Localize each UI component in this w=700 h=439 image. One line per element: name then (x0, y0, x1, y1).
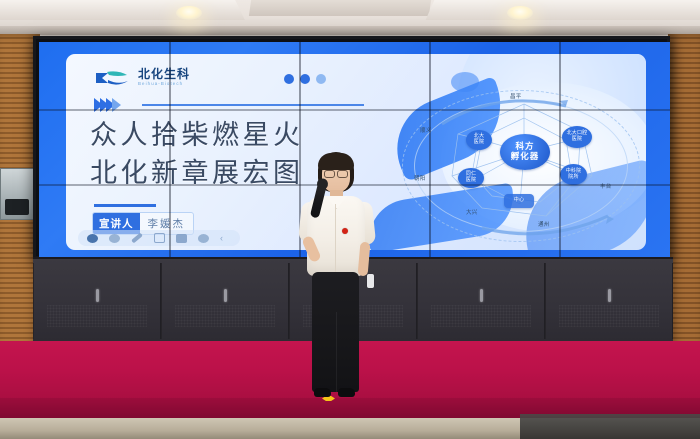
hair-front (318, 153, 354, 170)
slides-icon[interactable] (176, 234, 187, 243)
panel-seam-vertical (169, 42, 171, 259)
shoe-right (338, 388, 355, 397)
logo-text: 北化生科 Beihua-Biotech (138, 68, 190, 87)
diagram-node: 北大医院 (466, 130, 492, 150)
panel-seam-vertical (559, 42, 561, 259)
ceiling-beam (0, 26, 700, 35)
panel-seam-horizontal (39, 109, 670, 111)
diagram-district-label: 大兴 (466, 210, 478, 217)
slide-dot-group (284, 74, 326, 84)
cabinet-vent (559, 305, 660, 327)
panel-seam-vertical (429, 42, 431, 259)
diagram-hub-line-2: 孵化器 (511, 152, 540, 162)
laser-icon[interactable] (109, 234, 120, 243)
cabinet-door[interactable] (545, 263, 673, 339)
slide-dot-2 (300, 74, 310, 84)
logo-text-en: Beihua-Biotech (138, 80, 190, 87)
arm-right (358, 242, 371, 277)
company-logo: 北化生科 Beihua-Biotech (94, 68, 190, 88)
slide-divider-line (142, 104, 364, 106)
handheld-remote (367, 274, 374, 288)
slide-dot-1 (284, 74, 294, 84)
cabinet-door[interactable] (161, 263, 289, 339)
logo-text-cn: 北化生科 (138, 68, 190, 80)
ceiling-downlight-left (176, 6, 202, 20)
shirt-placket (335, 204, 336, 274)
ceiling-coffer-right (426, 0, 700, 20)
zoom-icon[interactable] (154, 233, 165, 243)
diagram-node: 中科院院所 (560, 164, 587, 185)
pen-pointer-icon[interactable] (87, 234, 98, 243)
presenter-underbar (94, 204, 156, 207)
diagram-node: 中心 (504, 194, 534, 208)
glasses-icon (324, 170, 348, 176)
presentation-toolbar[interactable]: ‹ (78, 230, 240, 246)
cabinet-door[interactable] (33, 263, 161, 339)
slide-title-line-1: 众人拾柴燃星火 (90, 116, 390, 154)
cabinet-vent (175, 305, 276, 327)
shoe-left (314, 388, 331, 397)
diagram-hub-node: 科方 孵化器 (500, 134, 550, 170)
speaker (290, 152, 382, 404)
floor-shadow-area (520, 414, 700, 439)
control-room-window (0, 168, 35, 220)
ceiling-coffer-center (249, 0, 431, 16)
trousers (312, 272, 359, 392)
slide-dot-3 (316, 74, 326, 84)
cabinet-door[interactable] (417, 263, 545, 339)
diagram-node: 北大口腔医院 (562, 126, 592, 148)
ceiling-downlight-right (507, 6, 533, 20)
cabinet-vent (47, 305, 148, 327)
cabinet-vent (431, 305, 532, 327)
next-icon[interactable]: ‹ (220, 234, 231, 243)
diagram-district-label: 朝阳 (414, 176, 426, 183)
photo-scene: 北化生科 Beihua-Biotech 众人拾柴燃星火 北化新章展宏图 (0, 0, 700, 439)
more-icon[interactable] (198, 234, 209, 243)
pen-icon[interactable] (131, 233, 143, 244)
logo-mark-icon (94, 68, 132, 88)
diagram-district-label: 昌平 (510, 94, 522, 101)
ceiling-coffer-left (0, 0, 245, 20)
party-emblem-pin (342, 228, 348, 234)
diagram-district-label: 通州 (538, 222, 550, 229)
